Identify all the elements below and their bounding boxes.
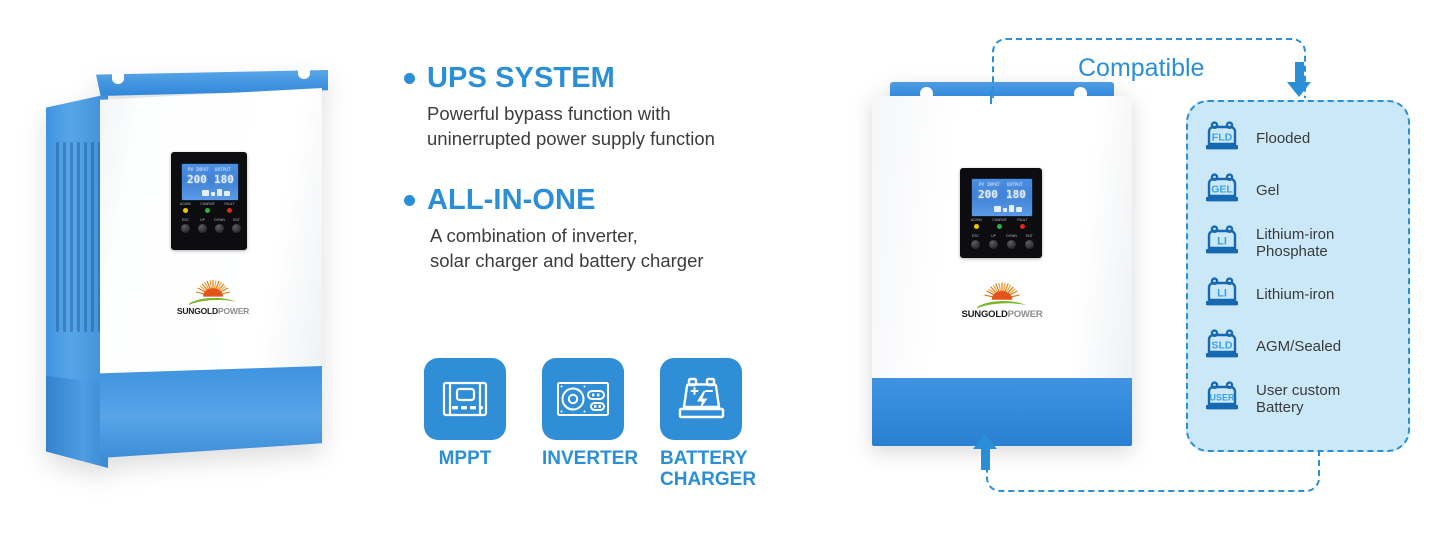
led-label: CHARGE <box>992 218 1007 222</box>
tile-label: MPPT <box>424 449 506 470</box>
led-indicators: AC/INV CHARGE FAULT <box>974 224 1025 229</box>
tile-label: BATTERY CHARGER <box>660 449 742 490</box>
battery-charger-icon <box>660 358 742 440</box>
button-enter[interactable]: ENT <box>1025 240 1034 249</box>
lcd-left-caption: PV INPUT <box>979 183 1000 187</box>
bottom-band <box>100 366 322 458</box>
led-indicators: AC/INV CHARGE FAULT <box>183 208 232 213</box>
keypad[interactable]: ESC UP DOWN ENT <box>971 240 1034 249</box>
feature-title: UPS SYSTEM <box>427 62 615 95</box>
bottom-band <box>872 378 1132 446</box>
led-label: AC/INV <box>180 202 191 206</box>
led-fault <box>227 208 232 213</box>
ventilation-slots <box>56 142 102 332</box>
lcd-right-value: 180 <box>214 174 234 185</box>
lcd-left-value: 200 <box>187 174 207 185</box>
lcd-right-value: 180 <box>1006 189 1026 200</box>
battery-li-icon: LI <box>1202 276 1242 315</box>
capability-tiles: MPPT <box>424 358 742 490</box>
tile-inverter: INVERTER <box>542 358 624 490</box>
battery-row: GEL Gel <box>1202 172 1398 211</box>
battery-label: AGM/Sealed <box>1256 339 1341 356</box>
compatible-label: Compatible <box>1078 54 1204 83</box>
lcd-status-icons <box>202 189 230 196</box>
lcd-control-panel: PV INPUT 200 OUTPUT 180 AC/INV CHARGE FA… <box>960 168 1042 258</box>
bullet-icon <box>404 195 415 206</box>
button-up[interactable]: UP <box>198 224 207 233</box>
lcd-screen: PV INPUT 200 OUTPUT 180 <box>971 178 1033 217</box>
lcd-left-value: 200 <box>978 189 998 200</box>
battery-label: Lithium-iron <box>1256 287 1334 304</box>
brand-logo: SUNGOLDPOWER <box>960 280 1044 320</box>
button-down[interactable]: DOWN <box>215 224 224 233</box>
battery-user-icon: USER <box>1202 380 1242 419</box>
battery-type-list: FLD Flooded GEL Gel <box>1202 120 1398 419</box>
compatible-connector-bottom <box>986 452 1320 492</box>
button-esc[interactable]: ESC <box>181 224 190 233</box>
battery-row: LI Lithium-iron Phosphate <box>1202 224 1398 263</box>
tile-battery-charger: BATTERY CHARGER <box>660 358 742 490</box>
battery-compatibility-panel: FLD Flooded GEL Gel <box>1186 100 1410 452</box>
feature-description: A combination of inverter, solar charger… <box>430 224 834 274</box>
inverter-product-photo-left: PV INPUT 200 OUTPUT 180 AC/INV CHARGE FA… <box>40 66 340 476</box>
lcd-left-caption: PV INPUT <box>188 168 209 172</box>
lcd-right-caption: OUTPUT <box>215 168 231 172</box>
svg-text:FLD: FLD <box>1212 132 1233 144</box>
side-panel-bottom <box>46 376 108 468</box>
keypad[interactable]: ESC UP DOWN ENT <box>181 224 241 233</box>
feature-description: Powerful bypass function with uninerrupt… <box>427 102 834 152</box>
handle-hook <box>112 73 124 84</box>
marketing-banner: PV INPUT 200 OUTPUT 180 AC/INV CHARGE FA… <box>0 0 1440 535</box>
feature-title: ALL-IN-ONE <box>427 184 596 217</box>
led-label: CHARGE <box>200 202 215 206</box>
battery-row: FLD Flooded <box>1202 120 1398 159</box>
lcd-screen: PV INPUT 200 OUTPUT 180 <box>181 163 239 201</box>
led-label: FAULT <box>224 202 234 206</box>
led-fault <box>1020 224 1025 229</box>
battery-label: Gel <box>1256 183 1279 200</box>
inverter-box-icon <box>542 358 624 440</box>
sunrise-logo-icon <box>183 278 243 308</box>
feature-list: UPS SYSTEM Powerful bypass function with… <box>404 62 834 274</box>
button-down[interactable]: DOWN <box>1007 240 1016 249</box>
battery-label: Lithium-iron Phosphate <box>1256 227 1334 261</box>
led-charge <box>997 224 1002 229</box>
brand-logo: SUNGOLDPOWER <box>171 278 255 316</box>
battery-fld-icon: FLD <box>1202 120 1242 159</box>
sunrise-logo-icon <box>971 280 1033 312</box>
svg-text:USER: USER <box>1209 393 1235 403</box>
connector-stub <box>990 90 992 104</box>
battery-label: User custom Battery <box>1256 383 1340 417</box>
led-label: FAULT <box>1017 218 1027 222</box>
battery-row: USER User custom Battery <box>1202 380 1398 419</box>
lcd-status-icons <box>994 205 1022 212</box>
feature-heading: ALL-IN-ONE <box>404 184 834 217</box>
button-enter[interactable]: ENT <box>232 224 241 233</box>
battery-row: SLD AGM/Sealed <box>1202 328 1398 367</box>
battery-label: Flooded <box>1256 131 1310 148</box>
feature-ups: UPS SYSTEM Powerful bypass function with… <box>404 62 834 152</box>
svg-text:GEL: GEL <box>1211 184 1233 196</box>
mppt-charge-controller-icon <box>424 358 506 440</box>
button-up[interactable]: UP <box>989 240 998 249</box>
button-esc[interactable]: ESC <box>971 240 980 249</box>
inverter-product-photo-right: PV INPUT 200 OUTPUT 180 AC/INV CHARGE FA… <box>868 82 1136 450</box>
feature-all-in-one: ALL-IN-ONE A combination of inverter, so… <box>404 184 834 274</box>
feature-heading: UPS SYSTEM <box>404 62 834 95</box>
led-ac-inv <box>183 208 188 213</box>
bullet-icon <box>404 73 415 84</box>
tile-mppt: MPPT <box>424 358 506 490</box>
tile-label: INVERTER <box>542 449 624 470</box>
lcd-control-panel: PV INPUT 200 OUTPUT 180 AC/INV CHARGE FA… <box>171 152 247 250</box>
handle-hook <box>298 68 310 79</box>
battery-li-icon: LI <box>1202 224 1242 263</box>
svg-text:LI: LI <box>1217 236 1227 248</box>
battery-row: LI Lithium-iron <box>1202 276 1398 315</box>
battery-sld-icon: SLD <box>1202 328 1242 367</box>
led-label: AC/INV <box>971 218 982 222</box>
led-charge <box>205 208 210 213</box>
lcd-right-caption: OUTPUT <box>1007 183 1023 187</box>
svg-text:SLD: SLD <box>1212 340 1233 352</box>
arrow-up-icon <box>973 432 999 470</box>
battery-gel-icon: GEL <box>1202 172 1242 211</box>
svg-text:LI: LI <box>1217 288 1227 300</box>
led-ac-inv <box>974 224 979 229</box>
